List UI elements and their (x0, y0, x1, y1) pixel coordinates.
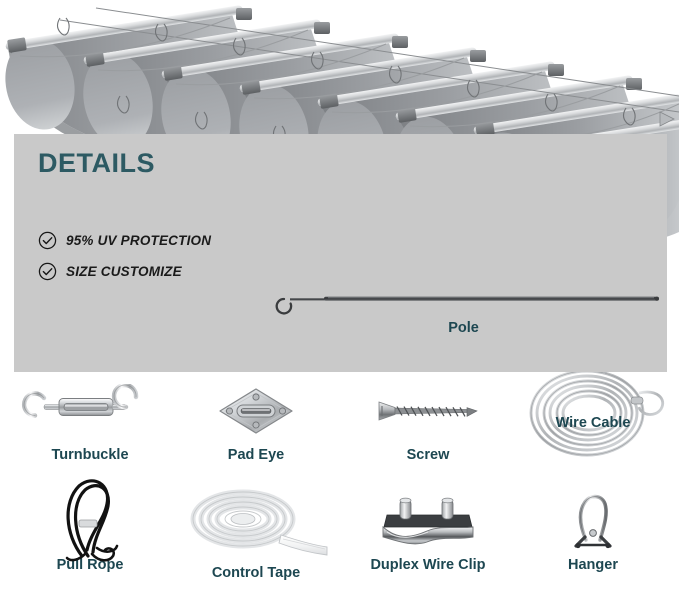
pad-eye-icon (213, 384, 299, 438)
pad-eye-art (171, 380, 341, 442)
accessory-item-wire-cable: Wire Cable (508, 370, 678, 448)
details-panel: DETAILS 95% UV PROTECTION SIZE CUSTOMIZE (14, 134, 667, 372)
feature-row-size-customize: SIZE CUSTOMIZE (38, 262, 182, 281)
pole-figure: Pole (266, 286, 661, 346)
screw-icon (373, 388, 483, 434)
accessory-label-turnbuckle: Turnbuckle (5, 447, 175, 463)
pull-rope-icon (35, 476, 145, 566)
accessory-item-pull-rope: Pull Rope (5, 490, 175, 573)
accessories-grid: Turnbuckle (0, 380, 679, 611)
hanger-art (508, 490, 678, 552)
accessory-item-hanger: Hanger (508, 490, 678, 573)
feature-label-uv-protection: 95% UV PROTECTION (66, 233, 211, 248)
feature-label-size-customize: SIZE CUSTOMIZE (66, 264, 182, 279)
wire-cable-art (508, 370, 678, 448)
check-circle-icon (38, 231, 57, 250)
accessory-label-hanger: Hanger (508, 557, 678, 573)
accessory-label-duplex-wire-clip: Duplex Wire Clip (343, 557, 513, 573)
accessory-label-control-tape: Control Tape (171, 565, 341, 581)
accessory-item-control-tape: Control Tape (171, 490, 341, 581)
pull-rope-art (5, 490, 175, 552)
check-circle-icon (38, 262, 57, 281)
feature-row-uv-protection: 95% UV PROTECTION (38, 231, 211, 250)
duplex-wire-clip-icon (373, 491, 483, 551)
control-tape-art (171, 490, 341, 560)
hanger-clip-icon (558, 490, 628, 552)
pole-label: Pole (266, 320, 661, 336)
pole-rod-with-hook-icon (266, 286, 661, 316)
control-tape-icon (181, 485, 331, 565)
accessory-label-pad-eye: Pad Eye (171, 447, 341, 463)
accessory-label-screw: Screw (343, 447, 513, 463)
screw-art (343, 380, 513, 442)
wire-cable-coil-icon (511, 357, 676, 462)
accessory-item-duplex-wire-clip: Duplex Wire Clip (343, 490, 513, 573)
accessory-item-turnbuckle: Turnbuckle (5, 380, 175, 463)
turnbuckle-art (5, 380, 175, 442)
accessory-item-pad-eye: Pad Eye (171, 380, 341, 463)
duplex-wire-clip-art (343, 490, 513, 552)
turnbuckle-icon (20, 384, 160, 438)
accessory-item-screw: Screw (343, 380, 513, 463)
accessory-label-wire-cable: Wire Cable (508, 415, 678, 431)
details-title: DETAILS (38, 148, 155, 179)
